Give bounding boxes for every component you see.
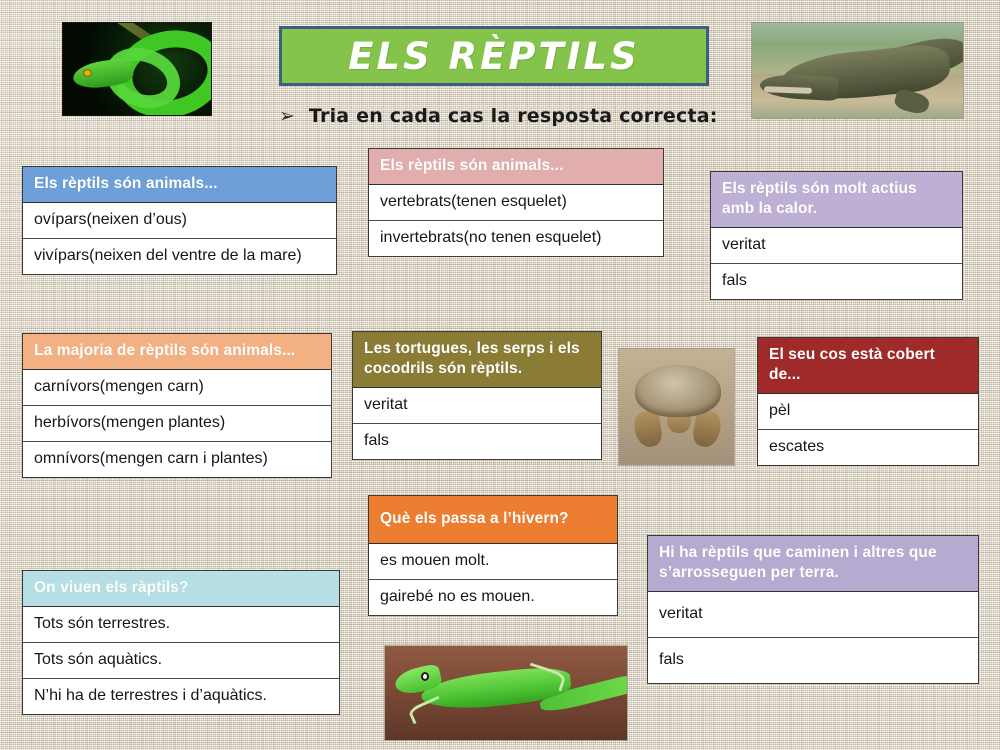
question-card-caminen: Hi ha rèptils que caminen i altres que s… bbox=[647, 535, 979, 684]
answer-option[interactable]: veritat bbox=[711, 228, 962, 264]
answer-option[interactable]: pèl bbox=[758, 394, 978, 430]
answer-option[interactable]: gairebé no es mouen. bbox=[369, 580, 617, 615]
question-header: Els rèptils són animals... bbox=[369, 149, 663, 185]
question-card-tortugues: Les tortugues, les serps i els cocodrils… bbox=[352, 331, 602, 460]
question-card-hivern: Què els passa a l’hivern? es mouen molt.… bbox=[368, 495, 618, 616]
question-header: Les tortugues, les serps i els cocodrils… bbox=[353, 332, 601, 388]
answer-option[interactable]: escates bbox=[758, 430, 978, 465]
question-header: La majoria de rèptils són animals... bbox=[23, 334, 331, 370]
answer-option[interactable]: Tots són terrestres. bbox=[23, 607, 339, 643]
instruction-text: Tria en cada cas la resposta correcta: bbox=[309, 105, 718, 127]
answer-option[interactable]: vertebrats(tenen esquelet) bbox=[369, 185, 663, 221]
answer-option[interactable]: herbívors(mengen plantes) bbox=[23, 406, 331, 442]
answer-option[interactable]: omnívors(mengen carn i plantes) bbox=[23, 442, 331, 477]
instruction-row: ➢ Tria en cada cas la resposta correcta: bbox=[279, 102, 719, 130]
question-card-actius: Els rèptils són molt actius amb la calor… bbox=[710, 171, 963, 300]
answer-option[interactable]: fals bbox=[711, 264, 962, 299]
answer-option[interactable]: ovípars(neixen d’ous) bbox=[23, 203, 336, 239]
green-snake-photo bbox=[62, 22, 212, 116]
lizard-eye-shape bbox=[421, 672, 429, 681]
question-card-vertebrats: Els rèptils són animals... vertebrats(te… bbox=[368, 148, 664, 257]
crocodile-photo bbox=[751, 22, 964, 119]
arrow-bullet-icon: ➢ bbox=[279, 107, 295, 126]
question-header: El seu cos està cobert de... bbox=[758, 338, 978, 394]
question-header: Què els passa a l’hivern? bbox=[369, 496, 617, 544]
question-header: Els rèptils són animals... bbox=[23, 167, 336, 203]
tortoise-shell-shape bbox=[635, 365, 721, 417]
answer-option[interactable]: Tots són aquàtics. bbox=[23, 643, 339, 679]
lizard-photo bbox=[384, 645, 628, 741]
page-title-banner: ELS RÈPTILS bbox=[279, 26, 709, 86]
answer-option[interactable]: N’hi ha de terrestres i d’aquàtics. bbox=[23, 679, 339, 714]
answer-option[interactable]: vivípars(neixen del ventre de la mare) bbox=[23, 239, 336, 274]
snake-eye-shape bbox=[83, 69, 92, 77]
answer-option[interactable]: carnívors(mengen carn) bbox=[23, 370, 331, 406]
question-header: Hi ha rèptils que caminen i altres que s… bbox=[648, 536, 978, 592]
tortoise-photo bbox=[618, 348, 735, 466]
question-header: Els rèptils són molt actius amb la calor… bbox=[711, 172, 962, 228]
question-card-cos: El seu cos està cobert de... pèl escates bbox=[757, 337, 979, 466]
question-card-ovipars: Els rèptils són animals... ovípars(neixe… bbox=[22, 166, 337, 275]
question-card-alimentacio: La majoria de rèptils són animals... car… bbox=[22, 333, 332, 478]
answer-option[interactable]: invertebrats(no tenen esquelet) bbox=[369, 221, 663, 256]
question-header: On viuen els ràptils? bbox=[23, 571, 339, 607]
answer-option[interactable]: fals bbox=[353, 424, 601, 459]
answer-option[interactable]: veritat bbox=[353, 388, 601, 424]
question-card-viuen: On viuen els ràptils? Tots són terrestre… bbox=[22, 570, 340, 715]
page-title: ELS RÈPTILS bbox=[348, 35, 640, 78]
worksheet-page: ELS RÈPTILS ➢ Tria en cada cas la respos… bbox=[0, 0, 1000, 750]
answer-option[interactable]: fals bbox=[648, 638, 978, 683]
answer-option[interactable]: veritat bbox=[648, 592, 978, 638]
answer-option[interactable]: es mouen molt. bbox=[369, 544, 617, 580]
